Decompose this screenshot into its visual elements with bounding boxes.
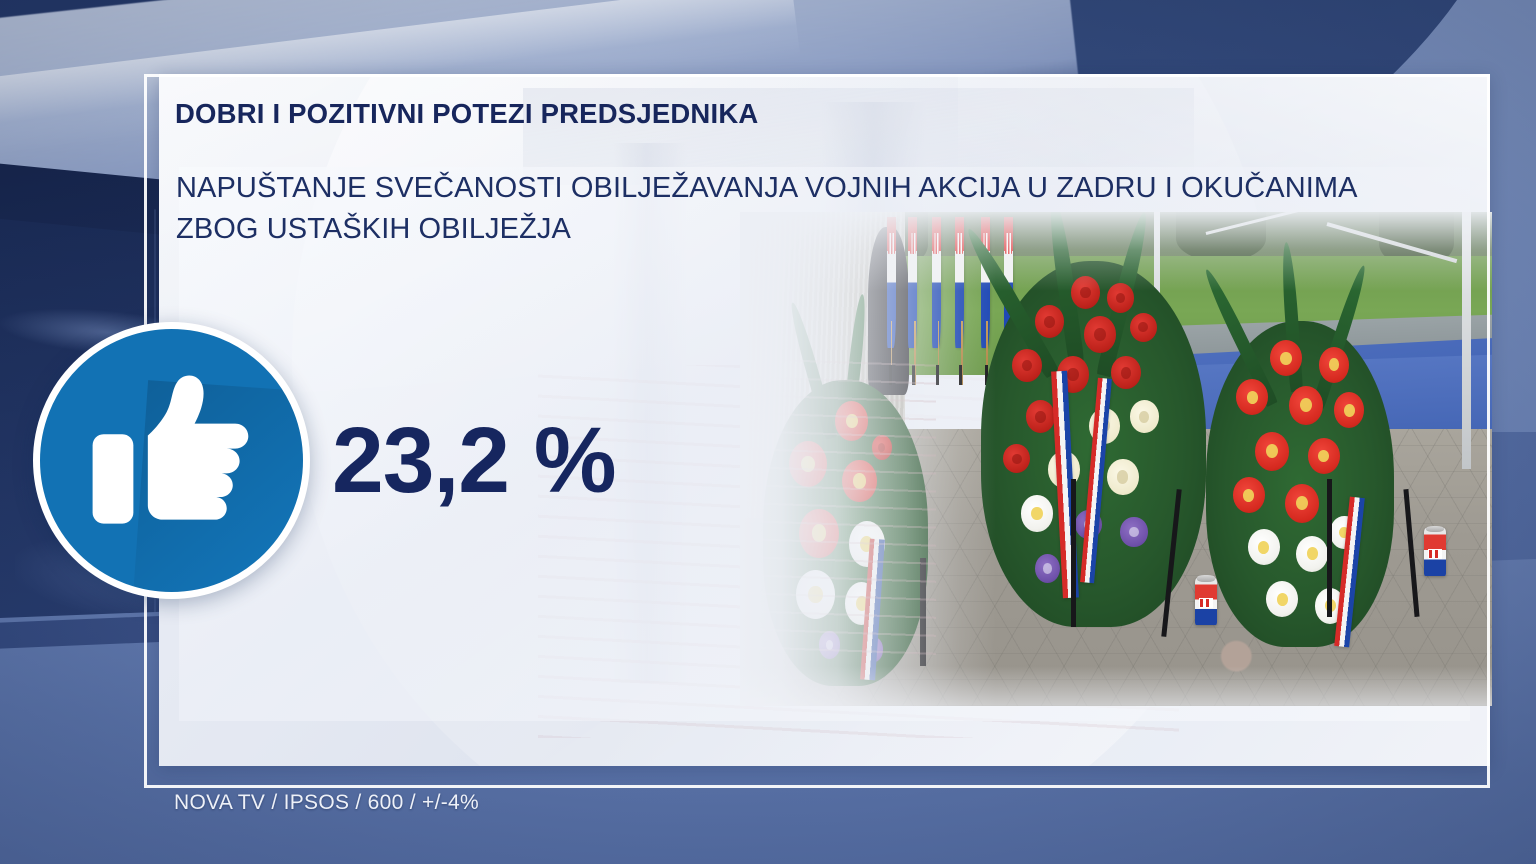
flower	[1308, 438, 1340, 474]
flower	[1319, 347, 1349, 383]
croatian-coat-of-arms	[1428, 549, 1442, 558]
page-title: DOBRI I POZITIVNI POTEZI PREDSJEDNIKA	[175, 98, 758, 130]
flower	[1289, 386, 1323, 425]
subtitle-text: NAPUŠTANJE SVEČANOSTI OBILJEŽAVANJA VOJN…	[176, 168, 1358, 250]
flower	[1107, 459, 1139, 496]
flower	[1270, 340, 1302, 376]
flower	[1012, 349, 1041, 382]
flower	[1233, 477, 1265, 513]
flower	[1285, 484, 1319, 523]
flower	[1084, 316, 1116, 353]
flower	[1255, 432, 1289, 471]
flower	[1111, 356, 1140, 389]
candle-cap	[1426, 526, 1444, 533]
flower	[1296, 536, 1328, 572]
croatian-coat-of-arms	[1199, 598, 1213, 607]
flower	[1248, 529, 1280, 565]
memorial-candle	[1424, 528, 1446, 575]
memorial-candle	[1195, 578, 1217, 625]
flower	[1130, 400, 1159, 433]
photo-scene	[740, 212, 1492, 706]
thumbs-up-badge	[33, 322, 310, 599]
percentage-value: 23,2 %	[332, 407, 616, 514]
wreath-stand	[1071, 479, 1076, 627]
memorial-photo	[740, 212, 1492, 706]
flower	[1035, 305, 1064, 338]
wreath-stand	[1327, 479, 1332, 617]
wreath-right	[1206, 321, 1394, 647]
photo-bottom-fade	[740, 666, 1492, 706]
flower	[1120, 517, 1147, 546]
source-attribution: NOVA TV / IPSOS / 600 / +/-4%	[174, 791, 479, 815]
flower	[1021, 495, 1053, 532]
photo-left-fade	[740, 212, 996, 706]
flower	[1035, 554, 1060, 583]
thumbs-up-icon	[40, 329, 303, 592]
flower	[1130, 313, 1157, 342]
candle-cap	[1197, 575, 1215, 582]
flower	[1026, 400, 1055, 433]
